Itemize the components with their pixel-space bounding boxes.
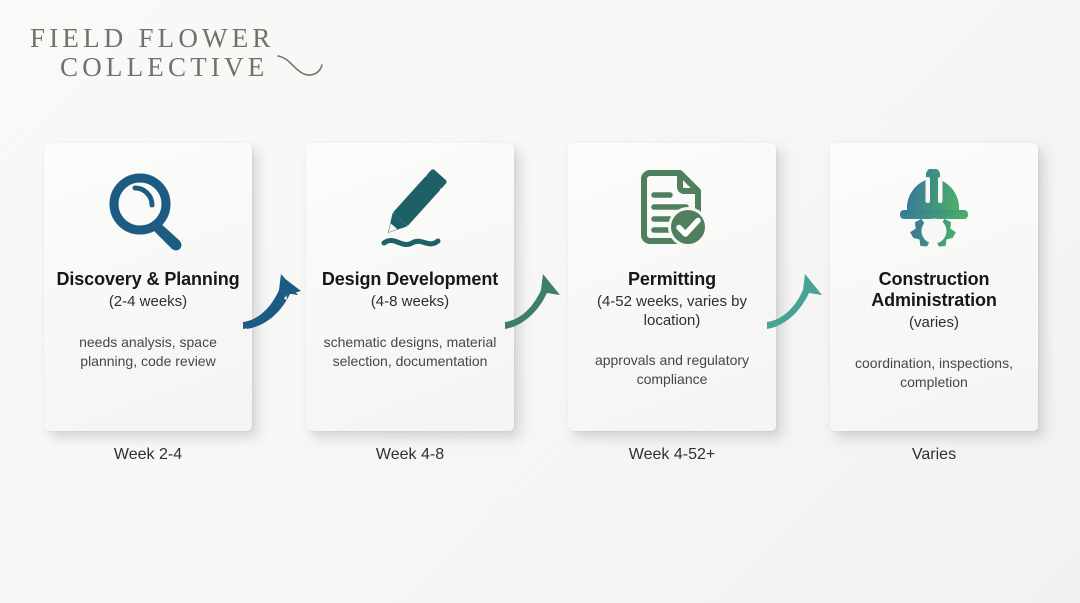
flourish-swash-icon: [276, 54, 324, 80]
card-title: Construction Administration: [842, 269, 1026, 311]
process-step-card-construction[interactable]: Construction Administration (varies) coo…: [830, 143, 1038, 431]
hard-hat-gear-icon: [888, 169, 980, 255]
arrow-step1-to-step2: [243, 268, 319, 330]
document-check-icon: [626, 169, 718, 255]
card-duration: (varies): [909, 314, 959, 333]
card-title: Permitting: [628, 269, 716, 290]
card-duration: (4-8 weeks): [371, 293, 449, 312]
card-title: Discovery & Planning: [56, 269, 239, 290]
timeline-label-construction: Varies: [830, 446, 1038, 464]
process-step-card-permitting[interactable]: Permitting (4-52 weeks, varies by locati…: [568, 143, 776, 431]
brand-line-1: FIELD FLOWER: [30, 24, 275, 52]
timeline-label-discovery: Week 2-4: [44, 446, 252, 464]
card-description: approvals and regulatory compliance: [580, 351, 764, 389]
card-duration: (2-4 weeks): [109, 293, 187, 312]
card-description: coordination, inspections, completion: [842, 354, 1026, 392]
brand-logo: FIELD FLOWER COLLECTIVE: [30, 24, 275, 83]
brand-line-2: COLLECTIVE: [60, 52, 275, 83]
timeline-label-permitting: Week 4-52+: [568, 446, 776, 464]
process-step-card-discovery[interactable]: Discovery & Planning (2-4 weeks) needs a…: [44, 143, 252, 431]
card-description: schematic designs, material selection, d…: [318, 333, 502, 371]
card-duration: (4-52 weeks, varies by location): [580, 293, 764, 331]
pencil-icon: [364, 169, 456, 255]
card-title: Design Development: [322, 269, 498, 290]
magnifying-glass-icon: [102, 169, 194, 255]
process-step-card-design[interactable]: Design Development (4-8 weeks) schematic…: [306, 143, 514, 431]
arrow-step2-to-step3: [505, 268, 581, 330]
arrow-step3-to-step4: [767, 268, 843, 330]
card-description: needs analysis, space planning, code rev…: [56, 333, 240, 371]
timeline-label-design: Week 4-8: [306, 446, 514, 464]
